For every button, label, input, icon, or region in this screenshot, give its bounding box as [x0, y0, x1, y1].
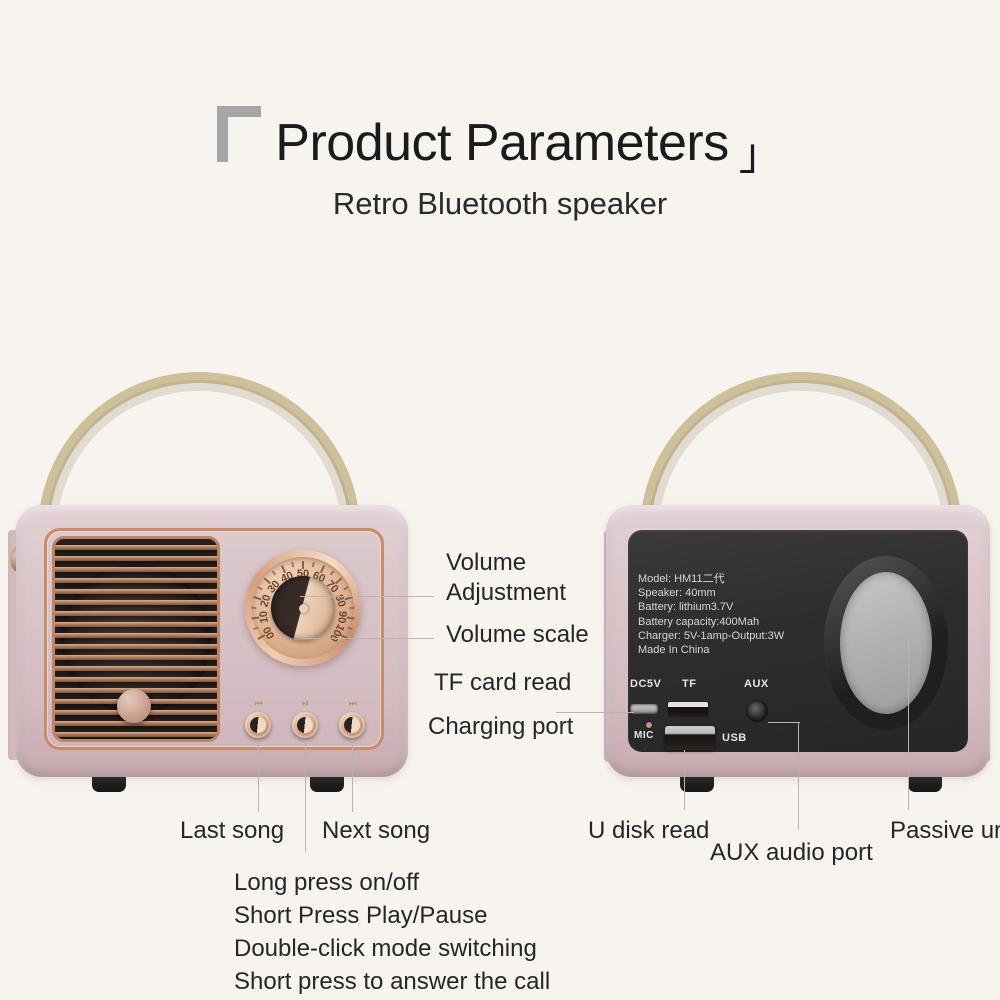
next-song-icon: ⏭ — [332, 698, 372, 709]
usb-port-label: USB — [722, 732, 747, 744]
annotation-next-song: Next song — [322, 816, 430, 846]
volume-dial-hub[interactable] — [271, 576, 335, 640]
leader-line-play-pause — [305, 740, 306, 852]
dc5v-port-label: DC5V — [630, 678, 661, 690]
spec-label: Model: HM11二代Speaker: 40mmBattery: lithi… — [638, 572, 784, 657]
play-pause-button[interactable] — [292, 712, 318, 738]
annotation-function-line: Short press to answer the call — [234, 965, 550, 998]
title-row: Product Parameters 」 — [0, 104, 1000, 182]
closing-bracket-icon: 」 — [739, 118, 783, 182]
volume-tick-minor — [343, 586, 348, 590]
annotation-tf-card-read: TF card read — [434, 668, 571, 698]
volume-tick-minor — [350, 607, 355, 610]
spec-line: Made In China — [638, 643, 784, 657]
volume-dial-pin — [299, 604, 308, 613]
leader-line-u-disk — [684, 750, 685, 810]
mic-label: MIC — [634, 730, 654, 741]
volume-tick-minor — [347, 627, 352, 630]
leader-line-volume-scale — [300, 638, 434, 639]
annotation-button-functions: Long press on/offShort Press Play/PauseD… — [234, 866, 550, 998]
annotation-function-line: Long press on/off — [234, 866, 550, 899]
product-parameters-infographic: Product Parameters 」 Retro Bluetooth spe… — [0, 0, 1000, 1000]
leader-line-passive-unit — [908, 640, 909, 810]
volume-tick — [347, 617, 355, 620]
volume-tick-minor — [253, 627, 258, 630]
speaker-grille — [52, 536, 220, 742]
leader-line-volume-adjustment — [300, 596, 434, 597]
page-subtitle: Retro Bluetooth speaker — [0, 186, 1000, 222]
leader-line-aux-audio — [798, 722, 799, 830]
aux-port-label: AUX — [744, 678, 769, 690]
leader-line-next-song — [352, 740, 353, 812]
tf-card-slot[interactable] — [668, 702, 708, 715]
volume-tick-minor — [251, 607, 256, 610]
page-title: Product Parameters — [275, 113, 728, 173]
mic-hole — [646, 722, 652, 728]
spec-line: Battery capacity:400Mah — [638, 615, 784, 629]
annotation-function-line: Short Press Play/Pause — [234, 899, 550, 932]
volume-dial[interactable]: 00102030405060708090100 — [245, 550, 361, 666]
annotation-u-disk-read: U disk read — [588, 816, 709, 846]
volume-tick-minor — [312, 562, 315, 567]
last-song-icon: ⏮ — [238, 698, 278, 709]
volume-tick-minor — [291, 562, 294, 567]
spec-line: Charger: 5V-1amp-Output:3W — [638, 629, 784, 643]
spec-line: Battery: lithium3.7V — [638, 600, 784, 614]
annotation-volume-adjustment: Volume Adjustment — [446, 548, 566, 608]
spec-line: Model: HM11二代 — [638, 572, 784, 586]
dc5v-port[interactable] — [630, 704, 658, 714]
annotation-last-song: Last song — [180, 816, 284, 846]
spec-line: Speaker: 40mm — [638, 586, 784, 600]
annotation-charging-port: Charging port — [428, 712, 573, 742]
passive-radiator-cone — [840, 572, 932, 714]
corner-bracket-icon — [217, 106, 261, 162]
next-song-button[interactable] — [339, 712, 365, 738]
volume-tick-minor — [330, 570, 335, 575]
aux-audio-port[interactable] — [746, 700, 768, 722]
leader-line-aux-audio-h — [768, 722, 800, 723]
tf-port-label: TF — [682, 678, 696, 690]
annotation-passive-unit: Passive un — [890, 816, 1000, 846]
usb-port[interactable] — [665, 726, 715, 750]
leader-line-last-song — [258, 740, 259, 812]
last-song-button[interactable] — [245, 712, 271, 738]
annotation-function-line: Double-click mode switching — [234, 932, 550, 965]
annotation-aux-audio-port: AUX audio port — [710, 838, 873, 868]
grille-center-knob — [117, 689, 151, 723]
annotation-volume-line2: Adjustment — [446, 578, 566, 608]
play-pause-icon: ⏯ — [285, 698, 325, 709]
annotation-volume-line1: Volume — [446, 548, 566, 578]
annotation-volume-scale: Volume scale — [446, 620, 589, 650]
